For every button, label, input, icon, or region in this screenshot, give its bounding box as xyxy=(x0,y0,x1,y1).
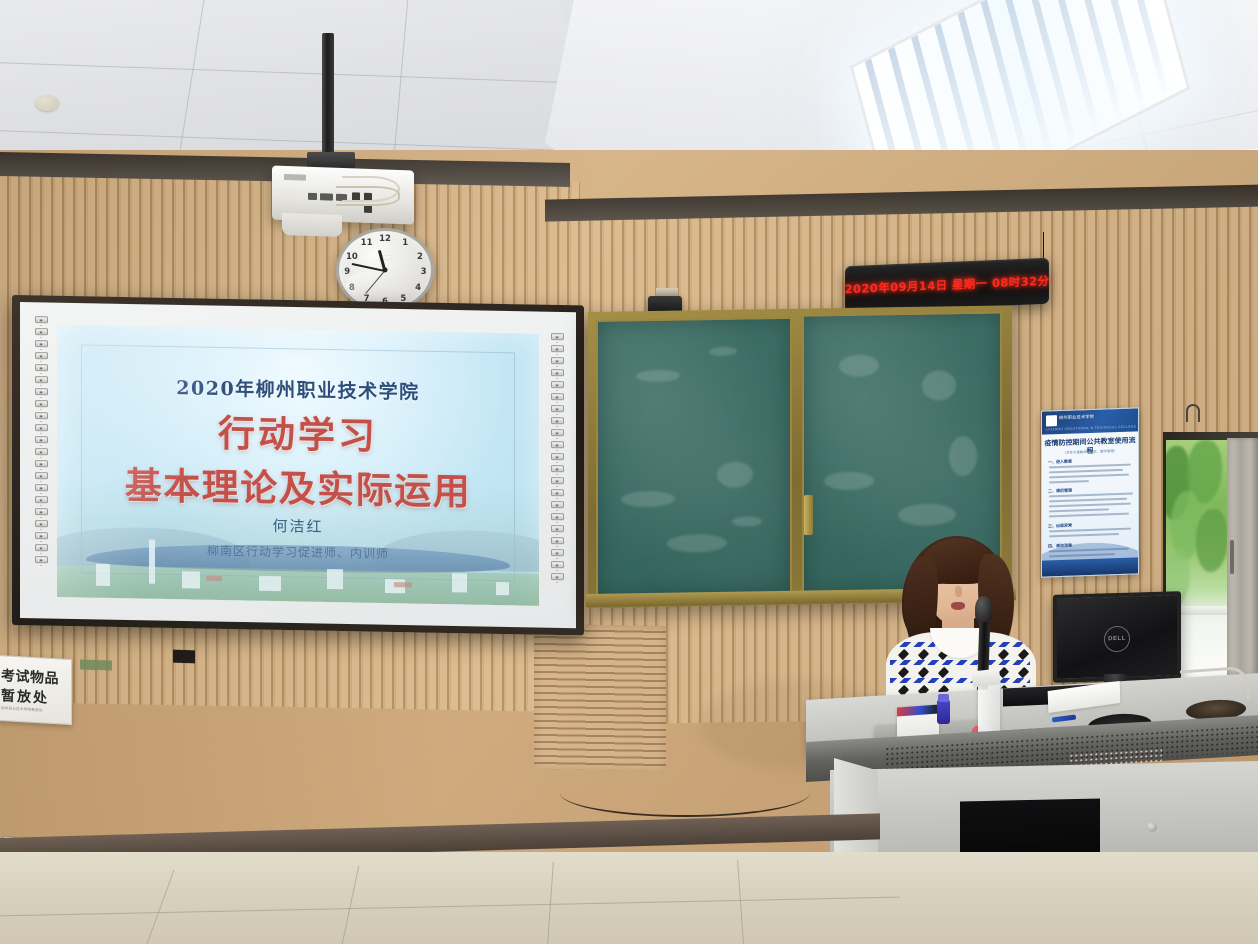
whiteboard-function-button[interactable]: ▣ xyxy=(35,484,48,491)
slide-title-line1: 行动学习 xyxy=(57,400,539,463)
whiteboard-function-button[interactable]: ▣ xyxy=(35,400,48,407)
whiteboard-function-button[interactable]: ▣ xyxy=(35,472,48,479)
whiteboard-button-label: ▪▪ xyxy=(40,372,42,375)
whiteboard-function-button[interactable]: ▣ xyxy=(551,525,564,532)
projector-pole-mount xyxy=(322,33,334,163)
whiteboard-button-label: ▪▪ xyxy=(556,521,558,524)
desk-lamp-arm xyxy=(1180,666,1250,705)
ink-bottle-cap[interactable] xyxy=(938,694,949,702)
wall-bracket-black xyxy=(173,650,195,664)
clock-numeral: 11 xyxy=(361,238,373,248)
whiteboard-function-button[interactable]: ▣ xyxy=(551,441,564,448)
whiteboard-function-button[interactable]: ▣ xyxy=(35,388,48,395)
whiteboard-button-label: ▪▪ xyxy=(556,569,558,572)
whiteboard-button-label: ▪▪ xyxy=(40,492,42,495)
computer-monitor[interactable]: DELL xyxy=(1053,591,1181,683)
whiteboard-button-label: ▪▪ xyxy=(40,420,42,423)
ceiling-hook xyxy=(1186,404,1200,422)
whiteboard-function-button[interactable]: ▣ xyxy=(551,561,564,568)
whiteboard-button-label: ▪▪ xyxy=(556,509,558,512)
whiteboard-button-label: ▪▪ xyxy=(40,528,42,531)
whiteboard-button-label: ▪▪ xyxy=(556,449,558,452)
wall-clock: 12 1 2 3 4 5 6 7 8 9 10 11 · · · · ·· · … xyxy=(336,228,434,312)
sign-line-2: 暂放处 xyxy=(1,685,72,709)
whiteboard-function-button[interactable]: ▣ xyxy=(35,496,48,503)
whiteboard-button-label: ▪▪ xyxy=(40,408,42,411)
whiteboard-button-label: ▪▪ xyxy=(40,552,42,555)
chalkboard-slide-handle[interactable] xyxy=(804,495,813,535)
whiteboard-function-button[interactable]: ▣ xyxy=(551,429,564,436)
poster-section-heading: 一、进入教室 xyxy=(1048,459,1072,466)
whiteboard-function-button[interactable]: ▣ xyxy=(551,405,564,412)
whiteboard-function-button[interactable]: ▣ xyxy=(551,513,564,520)
whiteboard-function-button[interactable]: ▣ xyxy=(551,345,564,352)
door-handle[interactable] xyxy=(1230,540,1234,574)
foliage xyxy=(1196,509,1228,572)
whiteboard-function-button[interactable]: ▣ xyxy=(551,381,564,388)
whiteboard-button-label: ▪▪ xyxy=(40,396,42,399)
clock-brand-text: · · · · ·· · · · · · · xyxy=(355,254,415,262)
whiteboard-function-button[interactable]: ▣ xyxy=(35,340,48,347)
whiteboard-button-label: ▪▪ xyxy=(556,485,558,488)
whiteboard-button-label: ▪▪ xyxy=(40,324,42,327)
whiteboard-function-button[interactable]: ▣ xyxy=(35,436,48,443)
poster-header-band: 柳州职业技术学院 LIUZHOU VOCATIONAL & TECHNICAL … xyxy=(1042,408,1138,434)
projector-lens-housing xyxy=(282,213,342,237)
whiteboard-function-button[interactable]: ▣ xyxy=(551,477,564,484)
mouth xyxy=(951,602,965,610)
clock-numeral: 12 xyxy=(379,234,391,244)
whiteboard-function-button[interactable]: ▣ xyxy=(551,369,564,376)
whiteboard-button-label: ▪▪ xyxy=(40,444,42,447)
tiled-floor xyxy=(0,852,1258,944)
whiteboard-button-label: ▪▪ xyxy=(556,353,558,356)
projector-cable xyxy=(336,186,400,206)
whiteboard-function-button[interactable]: ▣ xyxy=(551,549,564,556)
whiteboard-function-button[interactable]: ▣ xyxy=(35,412,48,419)
whiteboard-function-button[interactable]: ▣ xyxy=(35,532,48,539)
whiteboard-button-label: ▪▪ xyxy=(556,461,558,464)
lectern-lock[interactable] xyxy=(1147,822,1157,832)
clock-numeral: 3 xyxy=(421,267,427,277)
whiteboard-function-button[interactable]: ▣ xyxy=(35,352,48,359)
whiteboard-function-button[interactable]: ▣ xyxy=(35,316,48,323)
whiteboard-button-label: ▪▪ xyxy=(40,516,42,519)
wall-vent-panel xyxy=(534,624,666,771)
whiteboard-button-label: ▪▪ xyxy=(40,504,42,507)
whiteboard-button-label: ▪▪ xyxy=(40,384,42,387)
clock-glass-glare xyxy=(346,272,383,297)
whiteboard-button-column-left[interactable]: ▣▪▪▣▪▪▣▪▪▣▪▪▣▪▪▣▪▪▣▪▪▣▪▪▣▪▪▣▪▪▣▪▪▣▪▪▣▪▪▣… xyxy=(33,316,49,567)
microphone-head[interactable] xyxy=(975,596,992,622)
whiteboard-button-label: ▪▪ xyxy=(556,413,558,416)
slide-title-line2: 基本理论及实际运用 xyxy=(57,454,539,517)
poster-org-tagline: LIUZHOU VOCATIONAL & TECHNICAL COLLEGE xyxy=(1046,424,1137,431)
smoke-detector xyxy=(35,95,59,111)
card-box-top-band xyxy=(897,705,939,717)
led-display-text: 2020年09月14日 星期一 08时32分 xyxy=(845,273,1050,298)
whiteboard-button-label: ▪▪ xyxy=(40,564,42,567)
whiteboard-button-label: ▪▪ xyxy=(556,341,558,344)
college-logo-icon xyxy=(1046,415,1057,426)
whiteboard-button-label: ▪▪ xyxy=(40,432,42,435)
whiteboard-button-label: ▪▪ xyxy=(556,473,558,476)
whiteboard-button-label: ▪▪ xyxy=(40,336,42,339)
chalkboard-panel-left[interactable] xyxy=(596,317,792,598)
wall-marker-green xyxy=(80,659,112,670)
whiteboard-button-label: ▪▪ xyxy=(556,425,558,428)
clock-minute-hand xyxy=(352,263,386,272)
projection-slide: 2020年柳州职业技术学院 行动学习 基本理论及实际运用 何洁红 柳南区行动学习… xyxy=(57,325,539,606)
whiteboard-function-button[interactable]: ▣ xyxy=(35,364,48,371)
clock-numeral: 4 xyxy=(415,283,421,293)
poster-section-heading: 二、课后管理 xyxy=(1048,488,1072,495)
whiteboard-function-button[interactable]: ▣ xyxy=(551,537,564,544)
whiteboard-function-button[interactable]: ▣ xyxy=(551,393,564,400)
whiteboard-function-button[interactable]: ▣ xyxy=(35,460,48,467)
sign-footnote: 柳州职业技术学院教务处 xyxy=(1,706,43,713)
whiteboard-button-label: ▪▪ xyxy=(556,365,558,368)
clock-numeral: 2 xyxy=(417,252,423,262)
whiteboard-button-column-right[interactable]: ▣▪▪▣▪▪▣▪▪▣▪▪▣▪▪▣▪▪▣▪▪▣▪▪▣▪▪▣▪▪▣▪▪▣▪▪▣▪▪▣… xyxy=(549,333,565,584)
classroom-scene: 12 1 2 3 4 5 6 7 8 9 10 11 · · · · ·· · … xyxy=(0,0,1258,944)
whiteboard-button-label: ▪▪ xyxy=(40,480,42,483)
whiteboard-button-label: ▪▪ xyxy=(556,497,558,500)
ink-bottle[interactable] xyxy=(937,700,950,724)
whiteboard-function-button[interactable]: ▣ xyxy=(35,328,48,335)
whiteboard-button-label: ▪▪ xyxy=(40,360,42,363)
whiteboard-function-button[interactable]: ▣ xyxy=(35,376,48,383)
whiteboard-function-button[interactable]: ▣ xyxy=(551,357,564,364)
poster-org-name: 柳州职业技术学院 xyxy=(1059,414,1094,420)
whiteboard-button-label: ▪▪ xyxy=(40,468,42,471)
whiteboard-function-button[interactable]: ▣ xyxy=(35,424,48,431)
clock-center-pin xyxy=(383,268,388,273)
whiteboard-button-label: ▪▪ xyxy=(40,348,42,351)
whiteboard-button-label: ▪▪ xyxy=(40,456,42,459)
clock-numeral: 1 xyxy=(402,238,408,248)
whiteboard-button-label: ▪▪ xyxy=(556,377,558,380)
whiteboard-button-label: ▪▪ xyxy=(40,540,42,543)
whiteboard-function-button[interactable]: ▣ xyxy=(35,556,48,563)
dell-logo-icon: DELL xyxy=(1104,625,1130,652)
whiteboard-function-button[interactable]: ▣ xyxy=(35,448,48,455)
whiteboard-function-button[interactable]: ▣ xyxy=(551,453,564,460)
whiteboard-function-button[interactable]: ▣ xyxy=(551,489,564,496)
nose xyxy=(955,586,962,597)
disinfectant-spray-bottle[interactable] xyxy=(978,678,1000,738)
whiteboard-button-label: ▪▪ xyxy=(556,545,558,548)
whiteboard-function-button[interactable]: ▣ xyxy=(551,501,564,508)
whiteboard-function-button[interactable]: ▣ xyxy=(35,544,48,551)
whiteboard-function-button[interactable]: ▣ xyxy=(551,573,564,580)
whiteboard-function-button[interactable]: ▣ xyxy=(551,465,564,472)
whiteboard-button-label: ▪▪ xyxy=(556,401,558,404)
whiteboard-button-label: ▪▪ xyxy=(556,389,558,392)
whiteboard-function-button[interactable]: ▣ xyxy=(35,520,48,527)
whiteboard-function-button[interactable]: ▣ xyxy=(551,417,564,424)
led-clock-display: 2020年09月14日 星期一 08时32分 xyxy=(845,258,1049,313)
whiteboard-function-button[interactable]: ▣ xyxy=(551,333,564,340)
spray-trigger[interactable] xyxy=(971,669,1001,688)
whiteboard-button-label: ▪▪ xyxy=(556,581,558,584)
whiteboard-button-label: ▪▪ xyxy=(556,437,558,440)
whiteboard-button-label: ▪▪ xyxy=(556,533,558,536)
whiteboard-button-label: ▪▪ xyxy=(556,557,558,560)
whiteboard-function-button[interactable]: ▣ xyxy=(35,508,48,515)
exam-storage-sign: 考试物品 暂放处 柳州职业技术学院教务处 xyxy=(0,655,72,725)
